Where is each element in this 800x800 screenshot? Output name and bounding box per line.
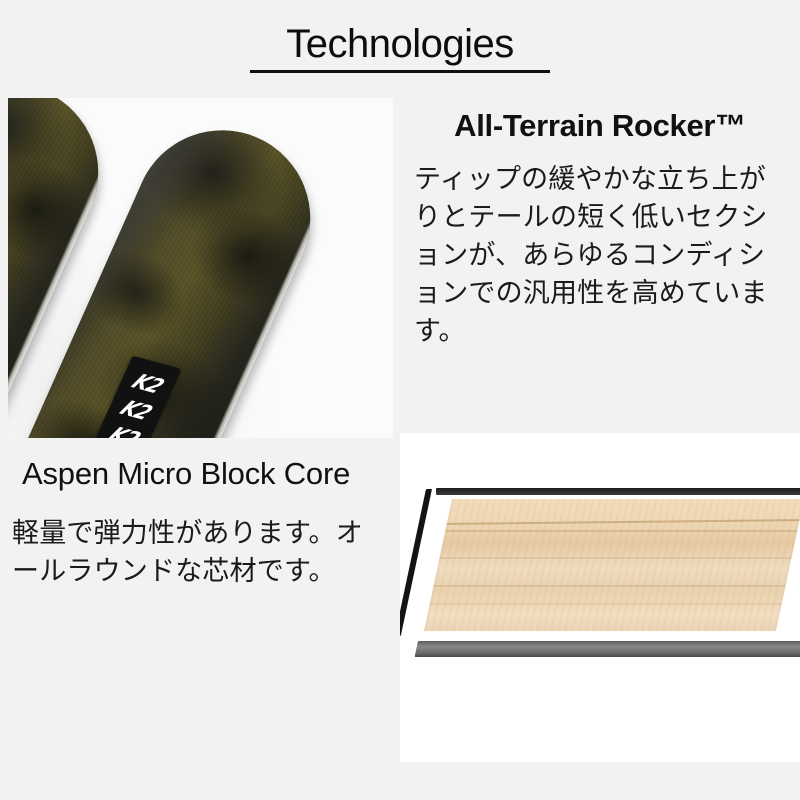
wood-grain-streak	[439, 557, 791, 559]
section-aspen-micro-block-core: Aspen Micro Block Core 軽量で弾力性があります。オールラウ…	[0, 448, 398, 648]
section-all-terrain-rocker: All-Terrain Rocker™ ティップの緩やかな立ち上がりとテールの短…	[400, 98, 800, 428]
wood-grain-streak	[445, 530, 797, 532]
aspen-core-photo	[400, 433, 800, 762]
core-top-layer	[436, 488, 800, 495]
technologies-page: Technologies K2 K2 K2 K2 K2 K	[0, 0, 800, 800]
title-underline-divider	[250, 70, 550, 73]
k2-logo-mark: K2	[115, 399, 155, 424]
core-base-layer	[415, 641, 800, 657]
section-heading-all-terrain-rocker: All-Terrain Rocker™	[400, 108, 800, 144]
wood-grain-streak	[429, 603, 781, 605]
ski-tips-photo: K2 K2 K2 K2 K2 K2 K2 K2	[8, 98, 393, 438]
wood-grain-streak	[433, 585, 785, 587]
k2-logo-mark: K2	[104, 425, 144, 438]
section-heading-aspen-micro-block-core: Aspen Micro Block Core	[22, 456, 350, 492]
wood-grain-streak	[447, 519, 800, 525]
page-title: Technologies	[0, 22, 800, 66]
k2-logo-mark: K2	[127, 372, 167, 397]
section-body-all-terrain-rocker: ティップの緩やかな立ち上がりとテールの短く低いセクションが、あらゆるコンディショ…	[414, 160, 790, 350]
section-body-aspen-micro-block-core: 軽量で弾力性があります。オールラウンドな芯材です。	[12, 514, 390, 590]
core-wood-sheet	[424, 499, 800, 631]
